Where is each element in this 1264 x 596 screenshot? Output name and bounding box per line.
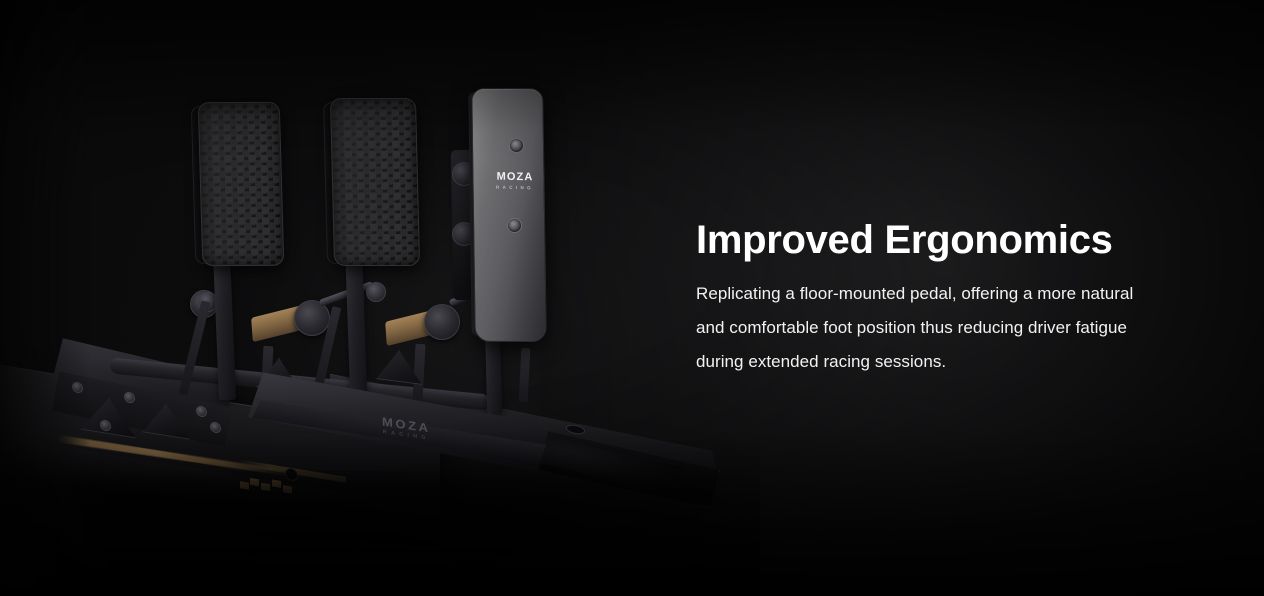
product-image: MOZA RACING MOZA RACING [0, 0, 760, 596]
damper-pivot-hub [424, 304, 460, 340]
brake-pedal-pad [330, 98, 420, 266]
rod-end-bearing [366, 282, 386, 302]
throttle-pedal-pad [471, 88, 547, 342]
throttle-pad-screw [507, 218, 522, 233]
product-left-fade [0, 0, 90, 596]
pedal-riser [519, 348, 531, 402]
page-title: Improved Ergonomics [696, 218, 1166, 263]
clutch-pedal-pad [198, 102, 285, 266]
throttle-pad-screw [509, 138, 524, 153]
copy-block: Improved Ergonomics Replicating a floor-… [696, 218, 1166, 379]
throttle-pad-sheen [472, 89, 546, 341]
body-paragraph: Replicating a floor-mounted pedal, offer… [696, 277, 1166, 379]
promo-banner: MOZA RACING MOZA RACING Improved Ergonom… [0, 0, 1264, 596]
